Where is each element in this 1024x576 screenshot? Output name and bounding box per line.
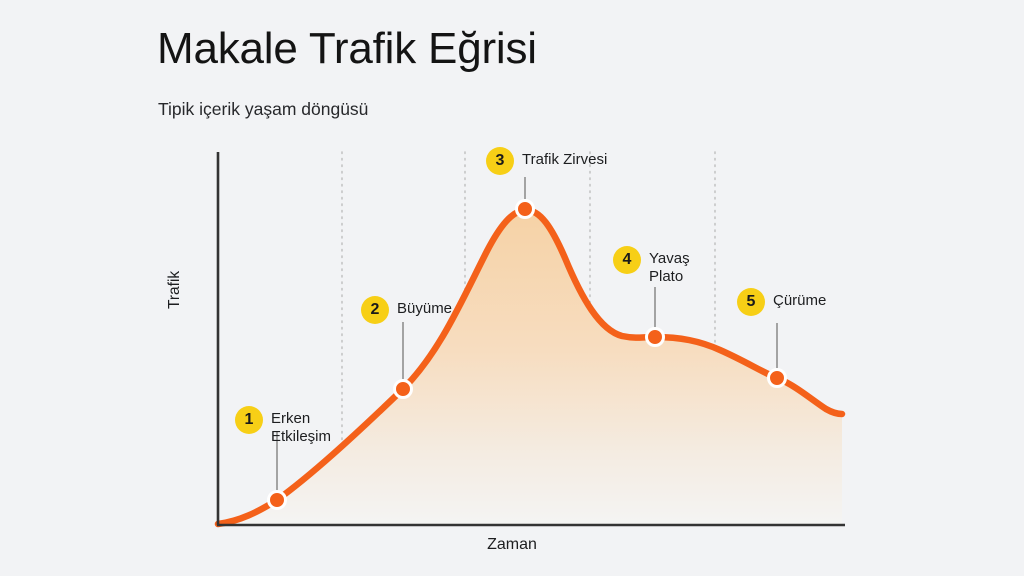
annotation-badge-1: 1 bbox=[235, 406, 263, 434]
annotation-label-4-line1: Yavaş bbox=[649, 250, 690, 267]
traffic-curve-chart bbox=[0, 0, 1024, 576]
annotation-label-4-line2: Plato bbox=[649, 268, 690, 286]
annotation-label-1-line1: Erken bbox=[271, 410, 310, 427]
annotation-badge-5: 5 bbox=[737, 288, 765, 316]
annotation-marker-4[interactable]: 4 Yavaş Plato bbox=[613, 246, 690, 287]
data-point-1[interactable] bbox=[269, 492, 286, 509]
annotation-label-3-line1: Trafik Zirvesi bbox=[522, 151, 607, 168]
annotation-label-5: Çürüme bbox=[773, 288, 826, 310]
data-point-2[interactable] bbox=[395, 381, 412, 398]
annotation-label-1-line2: Etkileşim bbox=[271, 428, 331, 446]
annotation-badge-2: 2 bbox=[361, 296, 389, 324]
annotation-badge-3: 3 bbox=[486, 147, 514, 175]
x-axis-label: Zaman bbox=[0, 536, 1024, 554]
annotation-label-4: Yavaş Plato bbox=[649, 246, 690, 287]
data-point-3[interactable] bbox=[517, 201, 534, 218]
slide-canvas: Makale Trafik Eğrisi Tipik içerik yaşam … bbox=[0, 0, 1024, 576]
annotation-label-5-line1: Çürüme bbox=[773, 292, 826, 309]
data-point-5[interactable] bbox=[769, 370, 786, 387]
annotation-label-3: Trafik Zirvesi bbox=[522, 147, 607, 169]
annotation-marker-3[interactable]: 3 Trafik Zirvesi bbox=[486, 147, 607, 175]
annotation-badge-4: 4 bbox=[613, 246, 641, 274]
annotation-marker-1[interactable]: 1 Erken Etkileşim bbox=[235, 406, 331, 447]
annotation-label-1: Erken Etkileşim bbox=[271, 406, 331, 447]
y-axis-label: Trafik bbox=[166, 279, 184, 309]
annotation-marker-2[interactable]: 2 Büyüme bbox=[361, 296, 452, 324]
data-point-4[interactable] bbox=[647, 329, 664, 346]
annotation-marker-5[interactable]: 5 Çürüme bbox=[737, 288, 826, 316]
annotation-label-2-line1: Büyüme bbox=[397, 300, 452, 317]
annotation-label-2: Büyüme bbox=[397, 296, 452, 318]
